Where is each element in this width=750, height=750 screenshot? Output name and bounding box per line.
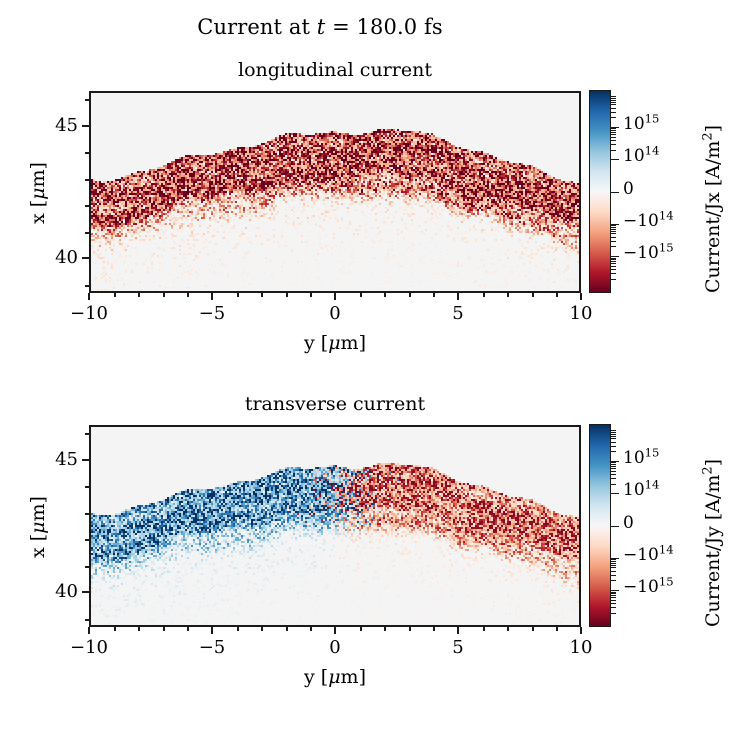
- colorbar-gradient-2: [590, 425, 610, 626]
- axis-tick: [82, 591, 89, 593]
- colorbar-label-1: Current/Jx [A/m2]: [703, 125, 723, 293]
- axis-tick: [611, 279, 616, 280]
- axis-tick: [611, 451, 616, 452]
- x-tick-label-2-3: 5: [428, 639, 488, 657]
- colorbar-tick-label-2-3: −1014: [623, 547, 674, 564]
- axis-tick: [611, 102, 616, 103]
- axis-tick: [611, 613, 616, 614]
- axis-tick: [611, 597, 616, 598]
- colorbar-label-1-prefix: Current/Jx [A/m: [702, 141, 724, 293]
- colorbar-tick-label-2-1: 1014: [623, 482, 659, 499]
- axis-tick: [138, 293, 140, 297]
- x-tick-label-1-2: 0: [305, 305, 365, 323]
- axis-tick: [611, 266, 616, 267]
- axis-tick: [457, 293, 459, 300]
- axis-tick: [611, 434, 616, 435]
- axis-tick: [611, 563, 616, 564]
- axis-tick: [580, 293, 582, 300]
- axis-tick: [611, 468, 616, 469]
- axis-tick: [532, 627, 534, 631]
- axis-tick: [334, 293, 336, 300]
- axis-tick: [286, 627, 288, 631]
- axis-tick: [85, 486, 89, 488]
- axis-tick: [85, 152, 89, 154]
- axis-tick: [384, 293, 386, 297]
- axis-tick: [611, 263, 616, 264]
- x-tick-label-2-4: 10: [551, 639, 611, 657]
- x-axis-label-2: y [μm]: [295, 666, 375, 688]
- axis-tick: [611, 436, 616, 437]
- axis-tick: [532, 293, 534, 297]
- colorbar-label-2-prefix: Current/Jy [A/m: [702, 475, 724, 627]
- colorbar-label-1-exp: 2: [701, 132, 716, 140]
- axis-tick: [611, 108, 616, 109]
- axis-tick: [611, 442, 616, 443]
- axis-tick: [611, 461, 619, 463]
- axis-tick: [611, 127, 619, 129]
- axis-tick: [310, 293, 312, 297]
- axis-tick: [82, 459, 89, 461]
- axis-tick: [457, 627, 459, 634]
- axis-tick: [85, 433, 89, 435]
- axis-tick: [211, 293, 213, 300]
- axis-tick: [85, 99, 89, 101]
- axis-tick: [611, 580, 616, 581]
- axis-tick: [507, 627, 509, 631]
- axis-tick: [611, 104, 616, 105]
- axis-tick: [611, 192, 619, 194]
- figure-suptitle: Current at t = 180.0 fs: [0, 14, 640, 40]
- colorbar-tick-label-2-2: 0: [623, 515, 634, 532]
- axis-tick: [611, 432, 616, 433]
- x-tick-label-1-1: −5: [182, 305, 242, 323]
- transverse-current-field: [91, 427, 581, 627]
- axis-tick: [85, 232, 89, 234]
- axis-tick: [611, 438, 616, 439]
- suptitle-prefix: Current at: [197, 15, 316, 39]
- axis-tick: [409, 627, 411, 631]
- axis-tick: [611, 150, 616, 151]
- axis-tick: [611, 600, 616, 601]
- axis-tick: [82, 257, 89, 259]
- axis-tick: [611, 256, 619, 258]
- axis-tick: [611, 474, 616, 475]
- colorbar-tick-label-2-0: 1015: [623, 450, 659, 467]
- colorbar-tick-label-1-1: 1014: [623, 148, 659, 165]
- colorbar-tick-label-1-4: −1015: [623, 245, 674, 262]
- colorbar-tick-label-1-3: −1014: [623, 213, 674, 230]
- subplot-title-transverse: transverse current: [89, 393, 581, 416]
- axis-tick: [611, 229, 616, 230]
- axis-tick: [310, 627, 312, 631]
- axis-tick: [611, 237, 616, 238]
- y-tick-label-1-0: 45: [36, 117, 78, 135]
- x-tick-label-2-1: −5: [182, 639, 242, 657]
- axis-tick: [433, 627, 435, 631]
- x-tick-label-2-0: −10: [59, 639, 119, 657]
- plot-area-transverse-current[interactable]: [89, 425, 581, 627]
- axis-tick: [611, 590, 619, 592]
- colorbar-transverse[interactable]: [589, 424, 611, 627]
- axis-tick: [611, 261, 616, 262]
- axis-tick: [261, 627, 263, 631]
- axis-tick: [611, 575, 616, 576]
- axis-tick: [384, 627, 386, 631]
- axis-tick: [611, 117, 616, 118]
- axis-tick: [611, 224, 619, 226]
- axis-tick: [611, 159, 619, 161]
- x-tick-label-1-0: −10: [59, 305, 119, 323]
- axis-tick: [611, 137, 616, 138]
- axis-tick: [409, 293, 411, 297]
- axis-tick: [187, 627, 189, 631]
- axis-tick: [611, 227, 616, 228]
- axis-tick: [187, 293, 189, 297]
- axis-tick: [611, 493, 619, 495]
- axis-tick: [611, 526, 619, 528]
- plot-area-longitudinal-current[interactable]: [89, 91, 581, 293]
- y-tick-label-2-0: 45: [36, 451, 78, 469]
- colorbar-label-2-exp: 2: [701, 466, 716, 474]
- axis-tick: [163, 627, 165, 631]
- axis-tick: [611, 144, 616, 145]
- subplot-title-longitudinal: longitudinal current: [89, 59, 581, 82]
- axis-tick: [611, 561, 616, 562]
- colorbar-tick-label-1-0: 1015: [623, 116, 659, 133]
- axis-tick: [611, 484, 616, 485]
- x-tick-label-1-3: 5: [428, 305, 488, 323]
- axis-tick: [82, 125, 89, 127]
- colorbar-longitudinal[interactable]: [589, 90, 611, 293]
- axis-tick: [611, 464, 616, 465]
- colorbar-gradient-1: [590, 91, 610, 292]
- axis-tick: [611, 567, 616, 568]
- axis-tick: [360, 293, 362, 297]
- y-tick-label-1-1: 40: [36, 249, 78, 267]
- axis-tick: [237, 627, 239, 631]
- axis-tick: [85, 566, 89, 568]
- axis-tick: [85, 513, 89, 515]
- axis-tick: [611, 241, 616, 242]
- axis-tick: [611, 571, 616, 572]
- longitudinal-current-field: [91, 93, 581, 293]
- x-tick-label-2-2: 0: [305, 639, 365, 657]
- axis-tick: [114, 293, 116, 297]
- axis-tick: [611, 269, 616, 270]
- suptitle-suffix: = 180.0 fs: [325, 15, 442, 39]
- axis-tick: [611, 233, 616, 234]
- axis-tick: [211, 627, 213, 634]
- axis-tick: [334, 627, 336, 634]
- axis-tick: [611, 430, 616, 431]
- axis-tick: [611, 471, 616, 472]
- axis-tick: [237, 293, 239, 297]
- axis-tick: [85, 179, 89, 181]
- axis-tick: [611, 132, 616, 133]
- axis-tick: [611, 258, 616, 259]
- axis-tick: [611, 592, 616, 593]
- colorbar-tick-label-1-2: 0: [623, 181, 634, 198]
- axis-tick: [611, 130, 616, 131]
- axis-tick: [611, 98, 616, 99]
- axis-tick: [85, 285, 89, 287]
- axis-tick: [611, 466, 616, 467]
- colorbar-label-2: Current/Jy [A/m2]: [703, 459, 723, 627]
- axis-tick: [611, 595, 616, 596]
- axis-tick: [556, 293, 558, 297]
- axis-tick: [483, 627, 485, 631]
- colorbar-label-1-suffix: ]: [702, 125, 724, 132]
- y-axis-label-1: x [μm]: [27, 162, 49, 224]
- axis-tick: [611, 246, 616, 247]
- axis-tick: [85, 619, 89, 621]
- axis-tick: [85, 205, 89, 207]
- axis-tick: [611, 273, 616, 274]
- axis-tick: [611, 140, 616, 141]
- axis-tick: [580, 627, 582, 634]
- axis-tick: [85, 539, 89, 541]
- axis-tick: [360, 627, 362, 631]
- axis-tick: [611, 96, 616, 97]
- axis-tick: [114, 627, 116, 631]
- axis-tick: [611, 607, 616, 608]
- axis-tick: [611, 565, 616, 566]
- y-tick-label-2-1: 40: [36, 583, 78, 601]
- axis-tick: [611, 446, 616, 447]
- axis-tick: [611, 231, 616, 232]
- axis-tick: [286, 293, 288, 297]
- axis-tick: [611, 134, 616, 135]
- colorbar-tick-label-2-4: −1015: [623, 579, 674, 596]
- x-tick-label-1-4: 10: [551, 305, 611, 323]
- axis-tick: [261, 293, 263, 297]
- axis-tick: [88, 627, 90, 634]
- axis-tick: [611, 100, 616, 101]
- axis-tick: [483, 293, 485, 297]
- axis-tick: [611, 478, 616, 479]
- axis-tick: [433, 293, 435, 297]
- axis-tick: [611, 603, 616, 604]
- x-axis-label-1: y [μm]: [295, 332, 375, 354]
- y-axis-label-2: x [μm]: [27, 496, 49, 558]
- axis-tick: [138, 627, 140, 631]
- axis-tick: [611, 558, 619, 560]
- axis-tick: [88, 293, 90, 300]
- figure-canvas: Current at t = 180.0 fs longitudinal cur…: [0, 0, 750, 750]
- colorbar-label-2-suffix: ]: [702, 459, 724, 466]
- axis-tick: [507, 293, 509, 297]
- axis-tick: [163, 293, 165, 297]
- axis-tick: [611, 112, 616, 113]
- axis-tick: [556, 627, 558, 631]
